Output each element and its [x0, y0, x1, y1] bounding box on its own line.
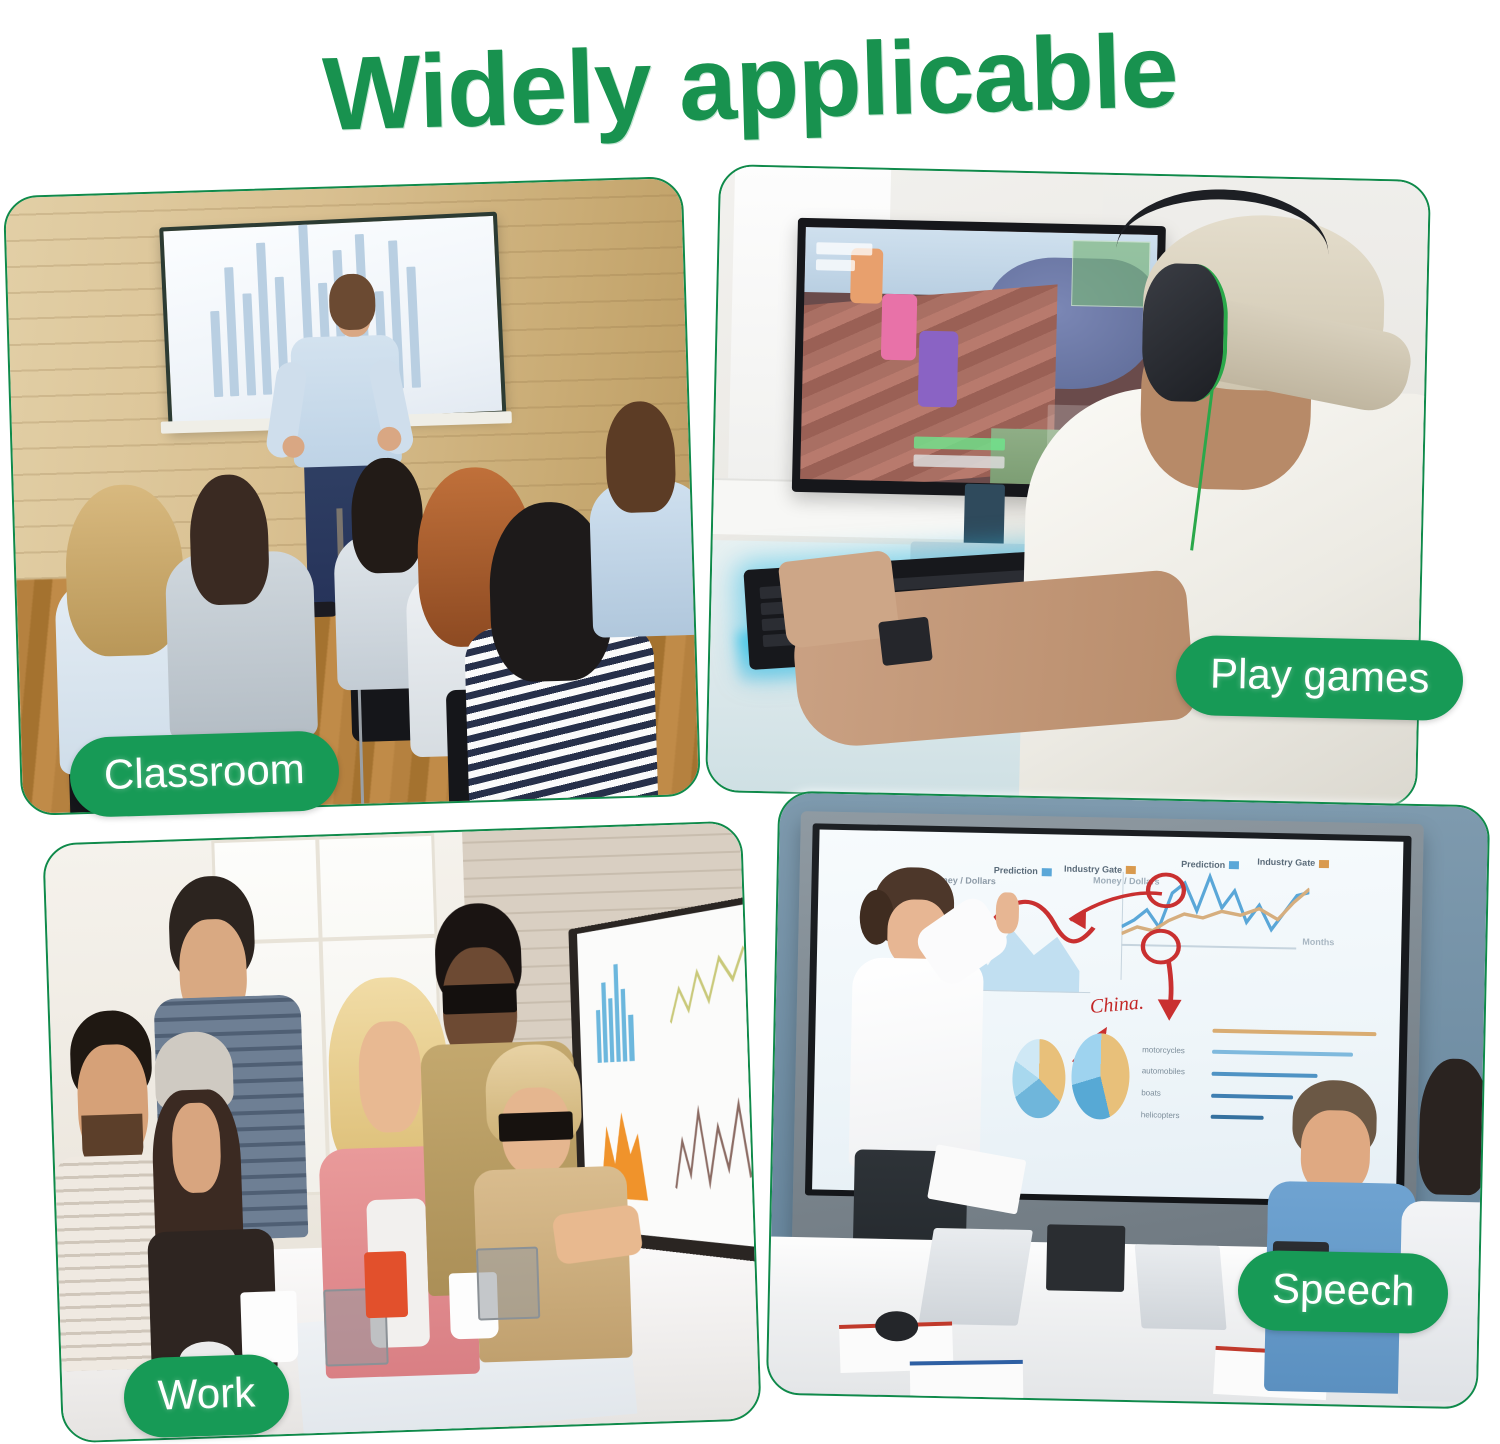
coffee-mug — [240, 1291, 298, 1364]
whiteboard-bar-label-2: boats — [1141, 1088, 1161, 1097]
page-title: Widely applicable — [0, 3, 1500, 164]
whiteboard-pie-1 — [1012, 1039, 1066, 1119]
badge-speech[interactable]: Speech — [1237, 1250, 1449, 1334]
panel-classroom[interactable] — [3, 176, 701, 816]
pen-holder-2 — [476, 1247, 541, 1321]
conference-phone — [1046, 1224, 1125, 1292]
poster-root: Widely applicable — [0, 0, 1500, 1444]
attendee-woman — [1398, 1058, 1488, 1384]
classroom-scene — [5, 178, 699, 814]
badge-classroom[interactable]: Classroom — [69, 730, 340, 818]
whiteboard-bar-label-3: helicopters — [1141, 1110, 1180, 1120]
notepad-2 — [909, 1360, 1023, 1404]
attendee-man — [1264, 1079, 1419, 1382]
table-mic — [875, 1311, 918, 1342]
panel-work[interactable] — [42, 821, 762, 1444]
laptop-right — [1135, 1244, 1227, 1330]
badge-play-games[interactable]: Play games — [1175, 635, 1464, 722]
laptop-left — [918, 1228, 1033, 1326]
travel-tumbler — [364, 1251, 408, 1318]
whiteboard-legend-industry-right: Industry Gate — [1257, 857, 1329, 869]
badge-work[interactable]: Work — [123, 1353, 291, 1438]
whiteboard-pie-2 — [1071, 1033, 1131, 1121]
whiteboard-bar-label-0: motorcycles — [1142, 1045, 1185, 1055]
work-scene — [44, 823, 759, 1442]
whiteboard-bar-label-1: automobiles — [1142, 1067, 1185, 1077]
headset-earcup — [1141, 263, 1229, 402]
